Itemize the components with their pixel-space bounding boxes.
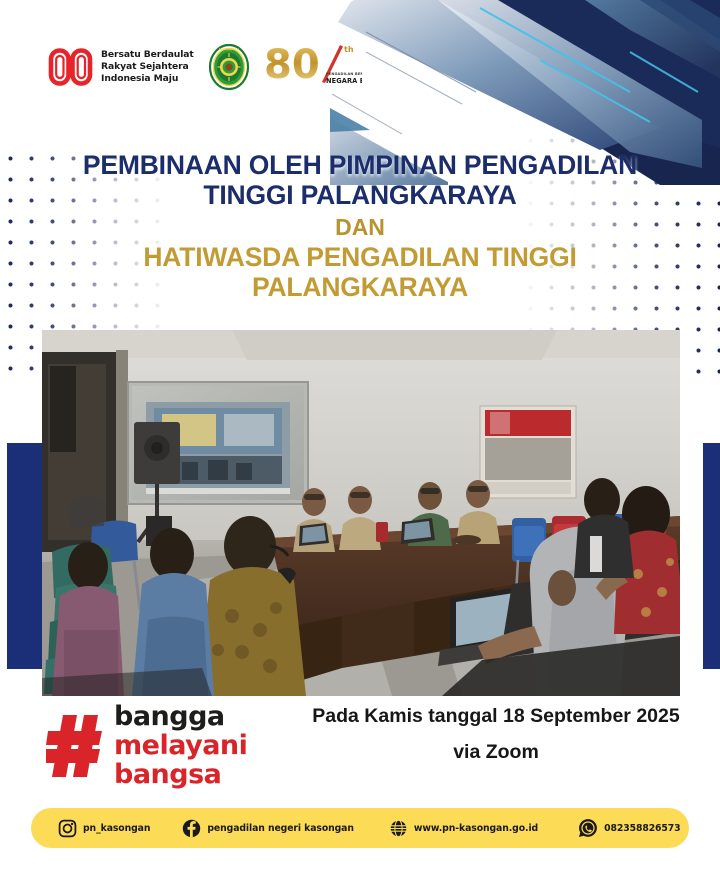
instagram-handle: pn_kasongan <box>83 823 150 834</box>
whatsapp-number: 082358826573 <box>604 823 680 834</box>
bangga-melayani-bangsa-logo: bangga melayani bangsa <box>46 703 247 788</box>
title-line-4: PALANGKARAYA <box>0 272 720 302</box>
instagram-icon <box>58 819 77 838</box>
bangga-word-1: bangga <box>114 703 247 730</box>
meeting-room-photo <box>42 330 680 696</box>
whatsapp-icon <box>578 818 598 838</box>
court-seal-svg: MAHKAMAH <box>208 43 250 91</box>
bangga-wordmark: bangga melayani bangsa <box>114 703 247 788</box>
facebook-icon <box>182 819 201 838</box>
event-title-block: PEMBINAAN OLEH PIMPINAN PENGADILAN TINGG… <box>0 150 720 303</box>
bangga-word-3: bangsa <box>114 761 247 788</box>
contact-footer-bar: pn_kasongan pengadilan negeri kasongan w… <box>31 808 689 848</box>
navy-accent-bar-right <box>703 443 720 669</box>
mahkamah-80-logo: 80 th PENGADILAN BERMARTABAT NEGARA BERD… <box>264 42 362 92</box>
bangga-word-2: melayani <box>114 732 247 759</box>
contact-website[interactable]: www.pn-kasongan.go.id <box>389 819 538 838</box>
svg-text:MAHKAMAH: MAHKAMAH <box>219 48 240 52</box>
indonesia-80-logo: Bersatu Berdaulat Rakyat Sejahtera Indon… <box>48 47 194 87</box>
ma-eighty-svg: 80 th PENGADILAN BERMARTABAT NEGARA BERD… <box>264 42 362 92</box>
contact-instagram[interactable]: pn_kasongan <box>58 819 150 838</box>
svg-text:NEGARA BERDAULAT: NEGARA BERDAULAT <box>326 77 362 85</box>
title-line-2: TINGGI PALANGKARAYA <box>0 180 720 210</box>
logo-row: Bersatu Berdaulat Rakyat Sejahtera Indon… <box>48 36 362 98</box>
title-line-3: HATIWASDA PENGADILAN TINGGI <box>0 242 720 272</box>
photo-illustration <box>42 330 680 696</box>
title-connector: DAN <box>0 213 720 242</box>
contact-facebook[interactable]: pengadilan negeri kasongan <box>182 819 354 838</box>
tagline-line-2: Rakyat Sejahtera <box>101 61 194 73</box>
svg-text:PENGADILAN BERMARTABAT: PENGADILAN BERMARTABAT <box>326 72 362 76</box>
title-line-1: PEMBINAAN OLEH PIMPINAN PENGADILAN <box>0 150 720 180</box>
contact-whatsapp[interactable]: 082358826573 <box>578 818 680 838</box>
eighty-numeral-icon <box>48 47 94 87</box>
hashtag-icon <box>46 713 104 779</box>
schedule-block: Pada Kamis tanggal 18 September 2025 via… <box>286 706 706 764</box>
event-platform: via Zoom <box>286 741 706 764</box>
globe-icon <box>389 819 408 838</box>
hash-svg <box>46 713 104 779</box>
tagline-line-3: Indonesia Maju <box>101 73 194 85</box>
mahkamah-agung-seal-icon: MAHKAMAH <box>208 43 250 91</box>
indonesia-80-tagline: Bersatu Berdaulat Rakyat Sejahtera Indon… <box>101 49 194 84</box>
facebook-name: pengadilan negeri kasongan <box>207 823 354 834</box>
event-date: Pada Kamis tanggal 18 September 2025 <box>286 706 706 727</box>
svg-text:80: 80 <box>264 42 320 88</box>
svg-text:th: th <box>344 45 354 54</box>
navy-accent-bar-left <box>7 443 43 669</box>
website-url: www.pn-kasongan.go.id <box>414 823 538 834</box>
tagline-line-1: Bersatu Berdaulat <box>101 49 194 61</box>
